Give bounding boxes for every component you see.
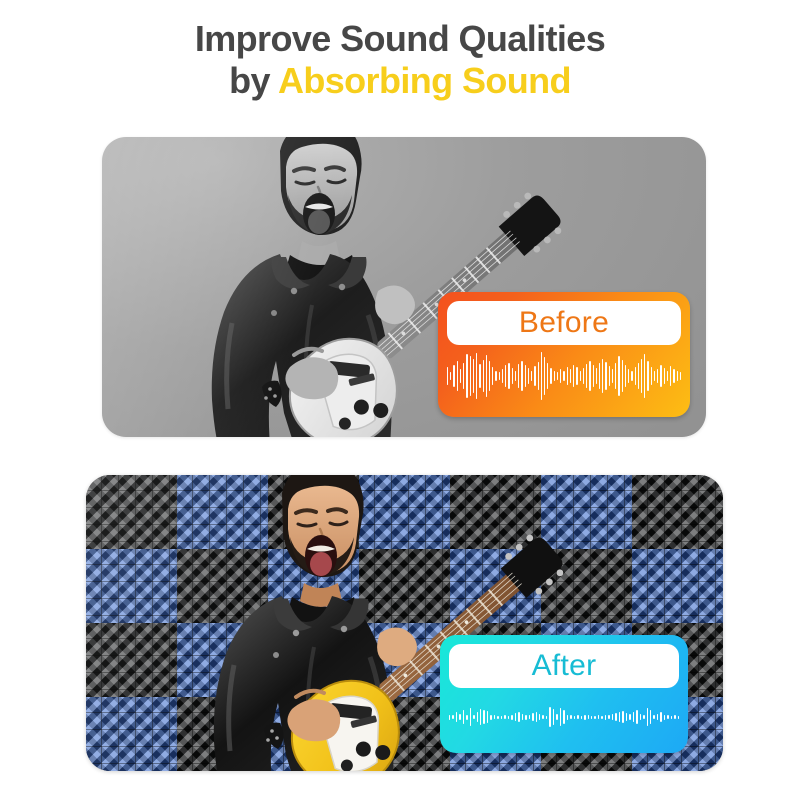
waveform-bar <box>670 366 671 386</box>
waveform-bar <box>599 363 600 389</box>
before-badge-label: Before <box>519 308 609 338</box>
waveform-bar <box>570 369 571 383</box>
waveform-bar <box>560 708 561 726</box>
foam-tile-blue <box>177 623 268 697</box>
foam-tile-blue <box>268 549 359 623</box>
waveform-bar <box>515 371 516 381</box>
waveform-bar <box>477 712 478 722</box>
waveform-bar <box>660 365 661 387</box>
waveform-bar <box>553 709 554 725</box>
foam-tile-blue <box>86 697 177 771</box>
waveform-bar <box>598 715 599 719</box>
waveform-bar <box>466 715 467 720</box>
waveform-bar <box>674 715 675 719</box>
waveform-bar <box>529 715 530 719</box>
waveform-bar <box>594 716 595 719</box>
waveform-bar <box>473 715 474 719</box>
headline-line-1: Improve Sound Qualities <box>0 18 800 60</box>
waveform-bar <box>487 711 488 723</box>
after-badge-label: After <box>532 651 597 681</box>
waveform-bar <box>586 364 587 388</box>
waveform-bar <box>497 716 498 719</box>
waveform-bar <box>479 364 480 388</box>
waveform-bar <box>470 356 471 396</box>
waveform-bar <box>525 365 526 387</box>
waveform-bar <box>459 714 460 720</box>
waveform-bar <box>518 712 519 722</box>
waveform-bar <box>483 360 484 392</box>
waveform-bar <box>563 710 564 724</box>
foam-tile-blue <box>86 549 177 623</box>
waveform-bar <box>667 715 668 719</box>
waveform-bar <box>504 715 505 719</box>
waveform-bar <box>539 714 540 720</box>
waveform-bar <box>515 713 516 721</box>
waveform-bar <box>609 366 610 386</box>
foam-tile-black <box>177 697 268 771</box>
waveform-bar <box>601 716 602 719</box>
waveform-bar <box>608 715 609 719</box>
waveform-bar <box>602 359 603 393</box>
waveform-bar <box>673 369 674 383</box>
quiet-waveform <box>449 696 679 738</box>
waveform-bar <box>521 361 522 391</box>
waveform-bar <box>447 367 448 385</box>
waveform-bar <box>629 714 630 720</box>
waveform-bar <box>625 365 626 387</box>
waveform-bar <box>505 365 506 387</box>
headline-line-2-prefix: by <box>229 60 278 101</box>
foam-tile-black <box>268 475 359 549</box>
waveform-bar <box>570 715 571 719</box>
waveform-bar <box>641 359 642 393</box>
waveform-bar <box>494 715 495 719</box>
waveform-bar <box>549 707 550 727</box>
loud-waveform <box>447 351 681 401</box>
waveform-bar <box>576 367 577 385</box>
foam-tile-blue <box>541 475 632 549</box>
waveform-bar <box>647 361 648 391</box>
waveform-bar <box>653 715 654 719</box>
waveform-bar <box>489 361 490 391</box>
waveform-bar <box>495 371 496 381</box>
foam-tile-black <box>86 623 177 697</box>
waveform-bar <box>644 354 645 398</box>
waveform-bar <box>643 715 644 719</box>
waveform-bar <box>596 368 597 384</box>
waveform-bar <box>593 365 594 387</box>
waveform-bar <box>589 361 590 391</box>
waveform-bar <box>538 362 539 390</box>
before-badge-pill: Before <box>447 301 681 345</box>
waveform-bar <box>678 716 679 719</box>
waveform-bar <box>605 715 606 720</box>
waveform-bar <box>450 372 451 380</box>
waveform-bar <box>501 716 502 719</box>
foam-tile-black <box>86 475 177 549</box>
waveform-bar <box>532 713 533 721</box>
waveform-bar <box>457 361 458 391</box>
waveform-bar <box>577 715 578 719</box>
waveform-bar <box>650 710 651 724</box>
waveform-bar <box>584 715 585 720</box>
before-panel: Before <box>102 137 706 437</box>
waveform-bar <box>628 369 629 383</box>
waveform-bar <box>622 711 623 723</box>
waveform-bar <box>518 364 519 388</box>
waveform-bar <box>667 371 668 381</box>
foam-tile-blue <box>359 623 450 697</box>
waveform-bar <box>588 715 589 719</box>
headline-line-2-accent: Absorbing Sound <box>278 60 571 101</box>
waveform-bar <box>677 371 678 381</box>
waveform-bar <box>542 715 543 719</box>
waveform-bar <box>680 372 681 380</box>
waveform-bar <box>463 710 464 724</box>
after-badge[interactable]: After <box>440 635 688 753</box>
waveform-bar <box>470 708 471 726</box>
foam-tile-blue <box>268 697 359 771</box>
waveform-bar <box>511 715 512 720</box>
foam-tile-black <box>450 475 541 549</box>
waveform-bar <box>636 710 637 724</box>
foam-tile-black <box>632 475 723 549</box>
waveform-bar <box>499 372 500 380</box>
waveform-bar <box>550 368 551 384</box>
waveform-bar <box>502 369 503 383</box>
waveform-bar <box>466 354 467 398</box>
waveform-bar <box>508 716 509 719</box>
waveform-bar <box>556 714 557 720</box>
waveform-bar <box>618 356 619 396</box>
waveform-bar <box>546 716 547 719</box>
foam-tile-black <box>359 697 450 771</box>
waveform-bar <box>547 363 548 389</box>
waveform-bar <box>567 367 568 385</box>
waveform-bar <box>671 716 672 719</box>
waveform-bar <box>635 367 636 385</box>
waveform-bar <box>651 367 652 385</box>
waveform-bar <box>581 716 582 719</box>
waveform-bar <box>544 357 545 395</box>
waveform-bar <box>626 713 627 721</box>
waveform-bar <box>460 369 461 383</box>
waveform-bar <box>456 712 457 722</box>
foam-tile-blue <box>359 475 450 549</box>
waveform-bar <box>508 363 509 389</box>
waveform-bar <box>647 708 648 726</box>
before-badge[interactable]: Before <box>438 292 690 417</box>
waveform-bar <box>473 359 474 393</box>
waveform-bar <box>463 363 464 389</box>
waveform-bar <box>615 363 616 389</box>
waveform-bar <box>615 713 616 721</box>
waveform-bar <box>640 714 641 720</box>
waveform-bar <box>633 712 634 722</box>
waveform-bar <box>525 715 526 720</box>
waveform-bar <box>480 709 481 725</box>
waveform-bar <box>657 369 658 383</box>
waveform-bar <box>483 710 484 724</box>
waveform-bar <box>622 360 623 392</box>
waveform-bar <box>660 712 661 722</box>
foam-tile-black <box>268 623 359 697</box>
waveform-bar <box>531 371 532 381</box>
waveform-bar <box>619 712 620 722</box>
waveform-bar <box>612 714 613 720</box>
waveform-bar <box>536 712 537 722</box>
waveform-bar <box>490 715 491 720</box>
headline-line-2: by Absorbing Sound <box>0 60 800 102</box>
waveform-bar <box>560 369 561 383</box>
waveform-bar <box>638 363 639 389</box>
waveform-bar <box>528 368 529 384</box>
foam-tile-blue <box>632 549 723 623</box>
waveform-bar <box>654 371 655 381</box>
waveform-bar <box>452 715 453 719</box>
waveform-bar <box>631 371 632 381</box>
foam-tile-black <box>177 549 268 623</box>
waveform-bar <box>567 715 568 720</box>
waveform-bar <box>580 371 581 381</box>
waveform-bar <box>557 372 558 380</box>
waveform-bar <box>612 369 613 383</box>
waveform-bar <box>449 715 450 720</box>
waveform-bar <box>563 371 564 381</box>
foam-tile-black <box>359 549 450 623</box>
after-panel: After <box>86 475 723 771</box>
waveform-bar <box>664 715 665 720</box>
waveform-bar <box>486 355 487 397</box>
waveform-bar <box>476 353 477 399</box>
page-title: Improve Sound Qualities by Absorbing Sou… <box>0 18 800 103</box>
waveform-bar <box>534 366 535 386</box>
waveform-bar <box>522 714 523 720</box>
foam-tile-black <box>541 549 632 623</box>
foam-tile-blue <box>177 475 268 549</box>
waveform-bar <box>591 716 592 719</box>
waveform-bar <box>657 714 658 720</box>
waveform-bar <box>574 716 575 719</box>
waveform-bar <box>664 368 665 384</box>
waveform-bar <box>492 367 493 385</box>
waveform-bar <box>583 368 584 384</box>
waveform-bar <box>453 365 454 387</box>
after-badge-pill: After <box>449 644 679 688</box>
waveform-bar <box>541 352 542 400</box>
waveform-bar <box>554 371 555 381</box>
waveform-bar <box>573 365 574 387</box>
foam-tile-blue <box>450 549 541 623</box>
waveform-bar <box>605 362 606 390</box>
waveform-bar <box>512 368 513 384</box>
